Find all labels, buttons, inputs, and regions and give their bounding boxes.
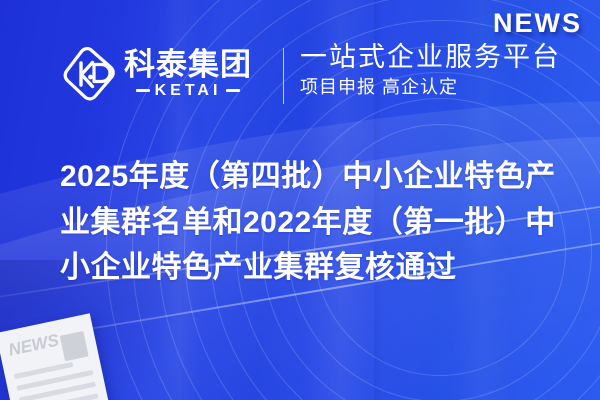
news-banner: NEWS 科泰集团 KETAI bbox=[0, 0, 600, 400]
logo-wordmark: 科泰集团 KETAI bbox=[124, 49, 252, 99]
newspaper-thumbnail-block bbox=[60, 331, 89, 361]
ketai-kp-monogram-icon bbox=[62, 44, 118, 104]
tagline-main: 一站式企业服务平台 bbox=[300, 42, 561, 73]
logo-english-name: KETAI bbox=[155, 83, 222, 99]
brand-tagline: 一站式企业服务平台 项目申报 高企认定 bbox=[300, 42, 561, 100]
logo-dash-right-icon bbox=[226, 89, 240, 92]
news-badge: NEWS bbox=[493, 8, 582, 39]
article-headline: 2025年度（第四批）中小企业特色产业集群名单和2022年度（第一批）中小企业特… bbox=[60, 154, 580, 291]
logo-chinese-name: 科泰集团 bbox=[124, 49, 252, 81]
logo-dash-left-icon bbox=[136, 89, 150, 92]
header-divider bbox=[283, 48, 284, 104]
banner-header: NEWS 科泰集团 KETAI bbox=[0, 0, 600, 128]
logo-english-row: KETAI bbox=[136, 83, 241, 99]
newspaper-masthead: NEWS bbox=[7, 330, 61, 360]
tagline-sub: 项目申报 高企认定 bbox=[300, 76, 561, 99]
brand-logo[interactable]: 科泰集团 KETAI bbox=[62, 44, 252, 104]
